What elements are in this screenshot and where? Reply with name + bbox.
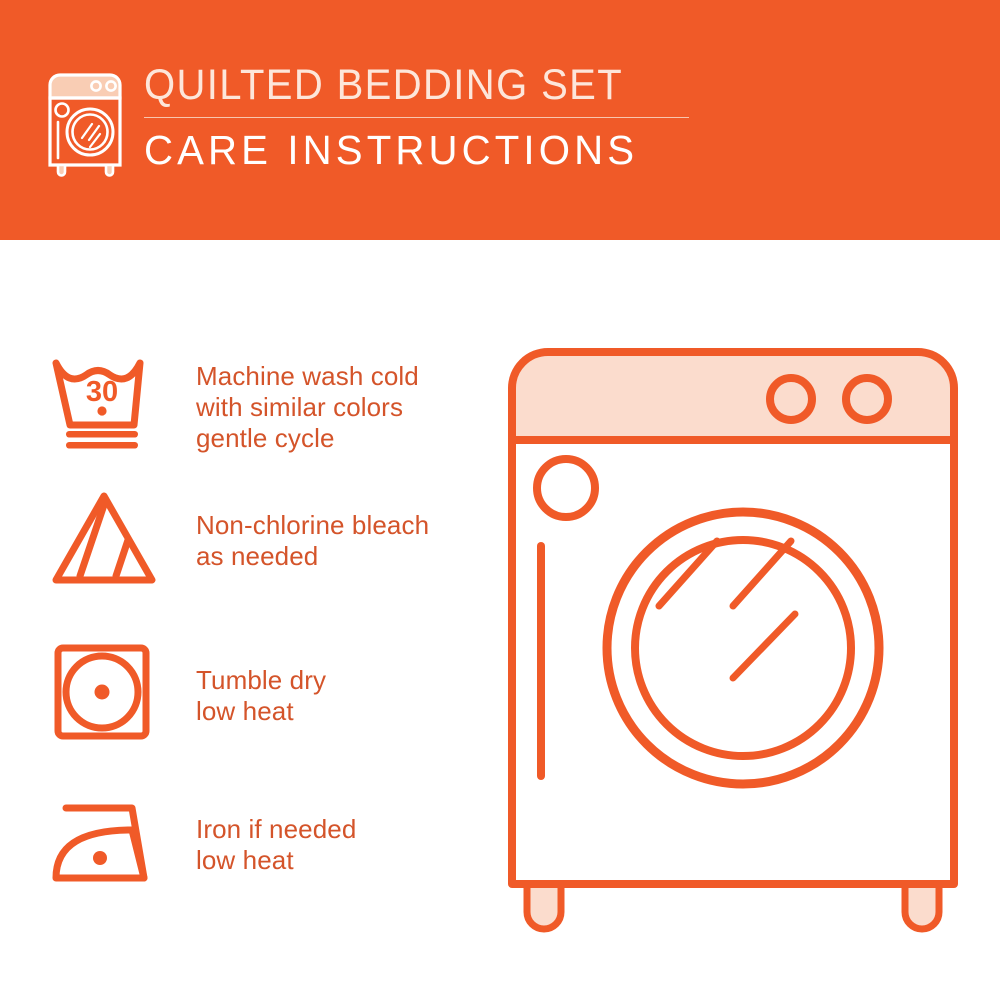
tumble-dry-low-heat-icon	[48, 640, 160, 748]
care-item-label: Non-chlorine bleach as needed	[196, 510, 429, 572]
wash-tub-30-gentle-icon: 30	[48, 345, 160, 453]
header-banner: QUILTED BEDDING SET CARE INSTRUCTIONS	[0, 0, 1000, 240]
care-item-bleach: Non-chlorine bleach as needed	[48, 488, 429, 596]
care-item-iron: Iron if needed low heat	[48, 792, 356, 900]
machine-body	[512, 440, 954, 884]
care-item-label: Iron if needed low heat	[196, 814, 356, 876]
page-title: QUILTED BEDDING SET	[144, 62, 651, 108]
care-item-label: Machine wash cold with similar colors ge…	[196, 361, 419, 454]
washing-machine-icon	[44, 68, 126, 178]
care-item-label: Tumble dry low heat	[196, 665, 326, 727]
header-content: QUILTED BEDDING SET CARE INSTRUCTIONS	[44, 62, 689, 178]
iron-low-heat-icon	[48, 792, 160, 900]
care-item-machine-wash: 30 Machine wash cold with similar colors…	[48, 345, 419, 454]
care-item-tumble-dry: Tumble dry low heat	[48, 640, 326, 748]
header-text-block: QUILTED BEDDING SET CARE INSTRUCTIONS	[144, 62, 689, 172]
page-subtitle: CARE INSTRUCTIONS	[144, 128, 678, 172]
non-chlorine-bleach-triangle-icon	[48, 488, 160, 596]
wash-temperature-value: 30	[86, 376, 118, 408]
washing-machine-illustration	[495, 336, 975, 946]
title-divider	[144, 117, 689, 118]
